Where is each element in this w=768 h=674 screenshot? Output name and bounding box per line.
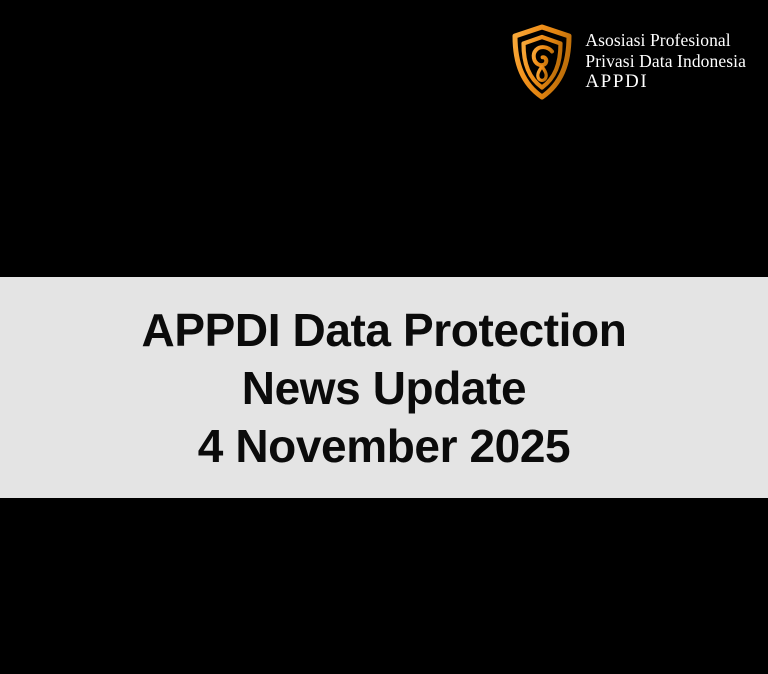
org-name-line-1: Asosiasi Profesional — [585, 30, 746, 50]
title-line-2: News Update — [242, 359, 526, 417]
title-line-3: 4 November 2025 — [198, 417, 570, 475]
appdi-shield-icon — [511, 24, 573, 100]
title-band: APPDI Data Protection News Update 4 Nove… — [0, 277, 768, 498]
org-name-line-2: Privasi Data Indonesia — [585, 51, 746, 71]
news-update-slide: Asosiasi Profesional Privasi Data Indone… — [0, 0, 768, 674]
appdi-logo-lockup: Asosiasi Profesional Privasi Data Indone… — [511, 24, 746, 100]
org-acronym: APPDI — [585, 71, 746, 93]
title-line-1: APPDI Data Protection — [142, 301, 627, 359]
appdi-wordmark: Asosiasi Profesional Privasi Data Indone… — [585, 30, 746, 93]
